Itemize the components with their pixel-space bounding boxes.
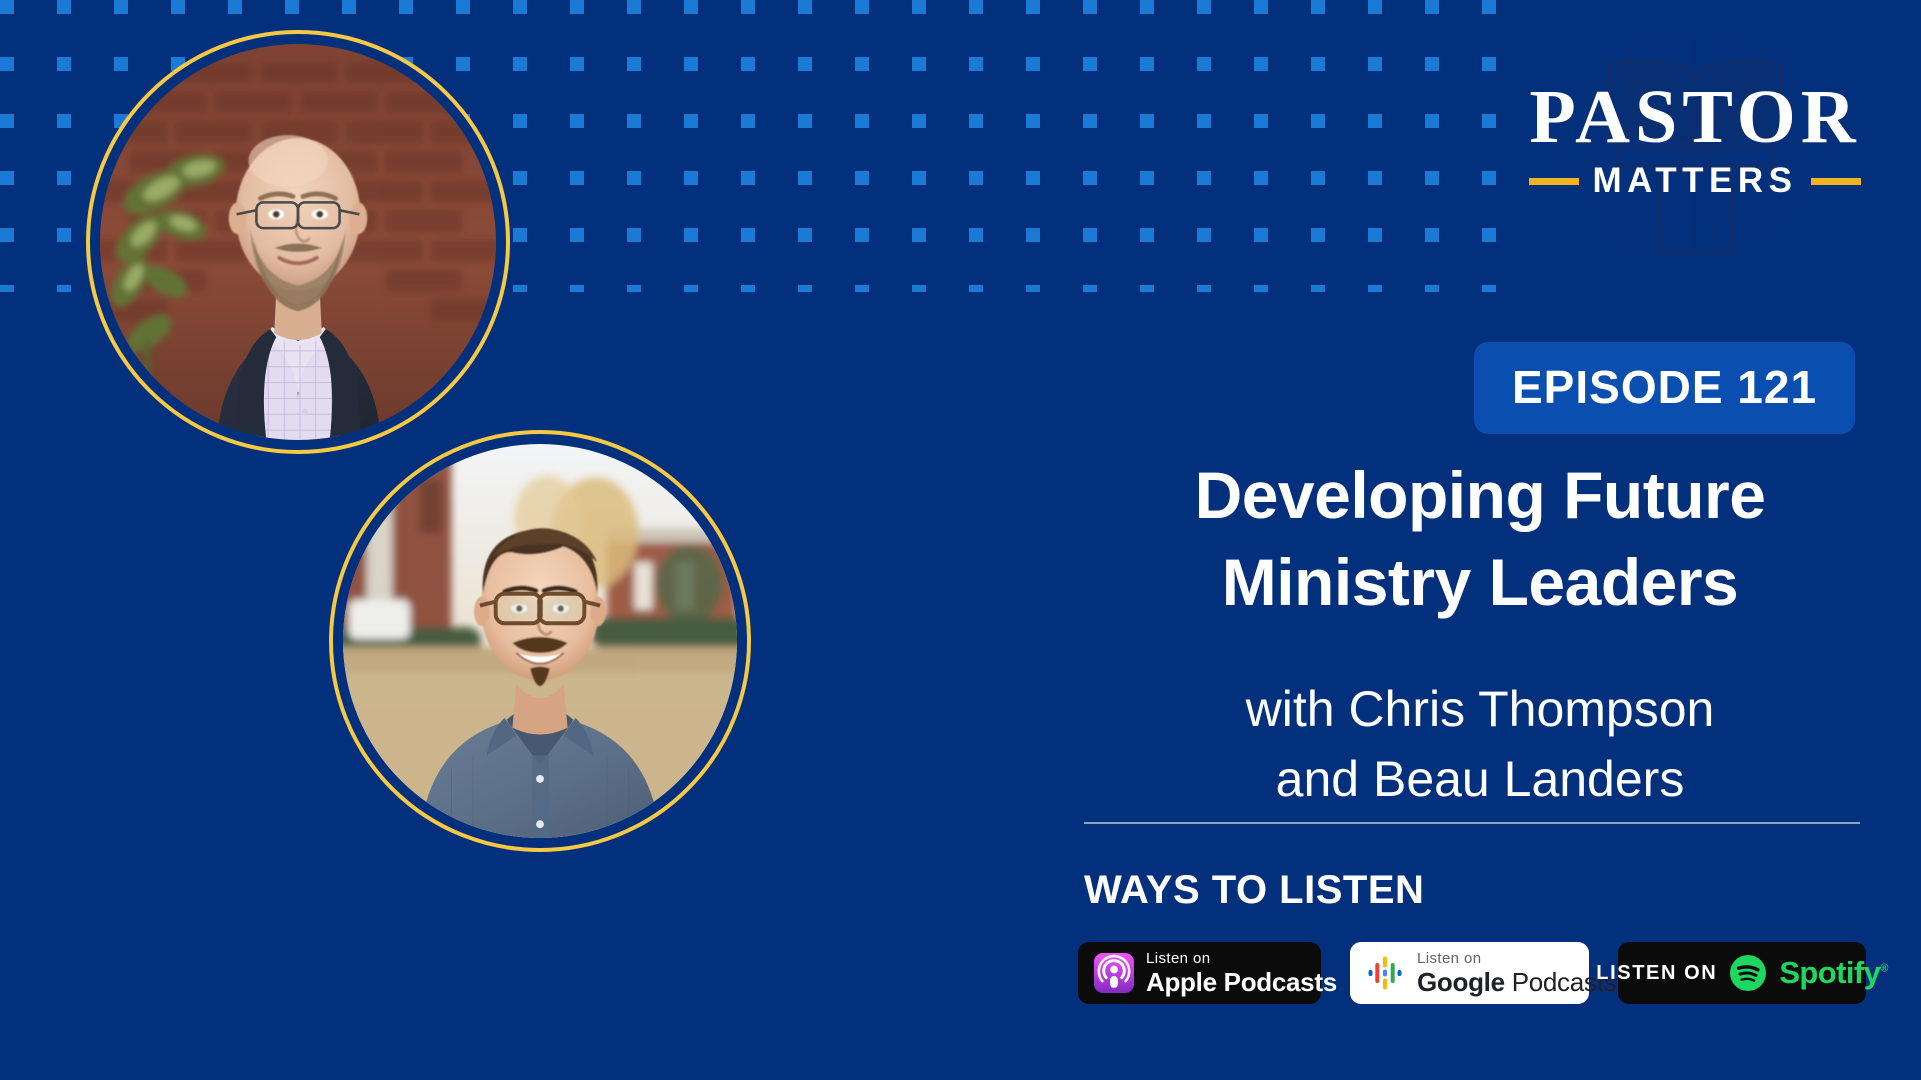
logo-rule-left: [1529, 178, 1579, 185]
portrait-image-beau-landers: [343, 444, 737, 838]
pastor-matters-logo: PASTOR MATTERS: [1504, 36, 1886, 258]
listen-badges: Listen on Apple Podcasts Listen on Googl…: [1078, 942, 1866, 1004]
portrait-chris-thompson: [86, 30, 510, 454]
logo-secondary-word: MATTERS: [1592, 161, 1797, 201]
apple-podcasts-icon: [1094, 953, 1134, 993]
google-badge-kicker: Listen on: [1417, 951, 1616, 966]
episode-guest-line-1: with Chris Thompson: [1060, 674, 1900, 744]
google-badge-title-bold: Google: [1417, 967, 1505, 997]
google-podcasts-icon: [1366, 954, 1404, 992]
podcast-episode-graphic: PASTOR MATTERS EPISODE 121 Developing Fu…: [0, 0, 1921, 1080]
logo-rule-right: [1811, 178, 1861, 185]
spotify-trademark: ®: [1880, 963, 1888, 975]
spotify-icon: [1729, 954, 1767, 992]
logo-primary-word: PASTOR: [1504, 80, 1886, 154]
episode-number-badge: EPISODE 121: [1474, 342, 1855, 434]
spotify-badge-kicker: LISTEN ON: [1596, 962, 1717, 985]
episode-title-line-2: Ministry Leaders: [1222, 545, 1739, 619]
spotify-badge-title: Spotify®: [1779, 955, 1887, 991]
episode-guests: with Chris Thompson and Beau Landers: [1060, 674, 1900, 814]
ways-to-listen-heading: WAYS TO LISTEN: [1084, 868, 1424, 913]
portrait-beau-landers: [329, 430, 751, 852]
google-badge-title: Google Podcasts: [1417, 969, 1616, 995]
section-divider: [1084, 822, 1860, 824]
episode-title: Developing Future Ministry Leaders: [1060, 452, 1900, 626]
episode-title-line-1: Developing Future: [1195, 458, 1766, 532]
portrait-image-chris-thompson: [100, 44, 496, 440]
apple-badge-kicker: Listen on: [1146, 951, 1337, 966]
episode-guest-line-2: and Beau Landers: [1060, 744, 1900, 814]
apple-badge-title: Apple Podcasts: [1146, 969, 1337, 995]
spotify-badge[interactable]: LISTEN ON Spotify®: [1618, 942, 1866, 1004]
google-podcasts-badge[interactable]: Listen on Google Podcasts: [1350, 942, 1589, 1004]
spotify-badge-title-text: Spotify: [1779, 955, 1880, 990]
apple-podcasts-badge[interactable]: Listen on Apple Podcasts: [1078, 942, 1321, 1004]
